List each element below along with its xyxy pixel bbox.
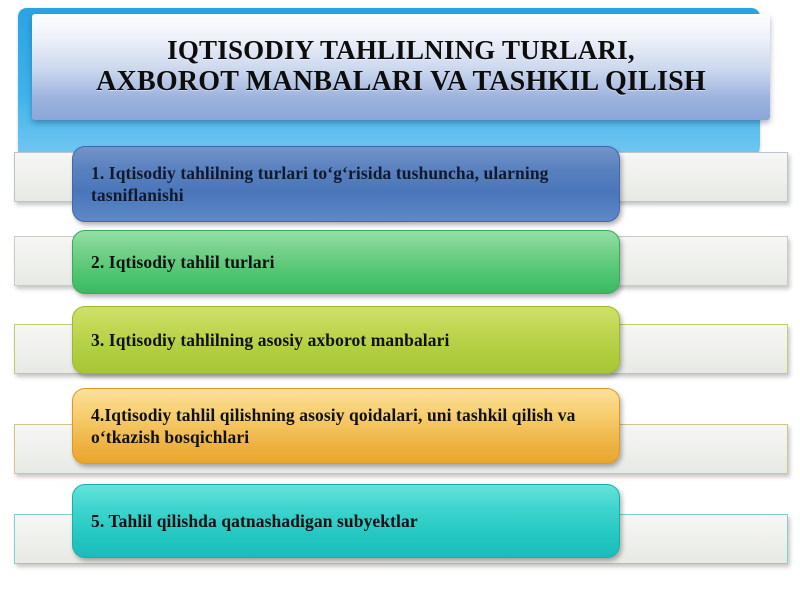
- page-title-line1: IQTISODIY TAHLILNING TURLARI,: [167, 35, 635, 65]
- agenda-item-3-label: 3. Iqtisodiy tahlilning asosiy axborot m…: [73, 329, 467, 351]
- slide-canvas: IQTISODIY TAHLILNING TURLARI, AXBOROT MA…: [0, 0, 800, 600]
- agenda-item-1[interactable]: 1. Iqtisodiy tahlilning turlari to‘g‘ris…: [72, 146, 620, 222]
- agenda-item-5-label: 5. Tahlil qilishda qatnashadigan subyekt…: [73, 510, 436, 532]
- slide-title-plate: IQTISODIY TAHLILNING TURLARI, AXBOROT MA…: [32, 14, 770, 120]
- agenda-item-1-label: 1. Iqtisodiy tahlilning turlari to‘g‘ris…: [73, 162, 619, 206]
- page-title: IQTISODIY TAHLILNING TURLARI, AXBOROT MA…: [86, 35, 716, 99]
- agenda-item-2[interactable]: 2. Iqtisodiy tahlil turlari: [72, 230, 620, 294]
- agenda-item-5[interactable]: 5. Tahlil qilishda qatnashadigan subyekt…: [72, 484, 620, 558]
- page-title-line2: AXBOROT MANBALARI VA TASHKIL QILISH: [96, 66, 706, 98]
- agenda-item-4[interactable]: 4.Iqtisodiy tahlil qilishning asosiy qoi…: [72, 388, 620, 464]
- agenda-item-2-label: 2. Iqtisodiy tahlil turlari: [73, 251, 293, 273]
- agenda-item-4-label: 4.Iqtisodiy tahlil qilishning asosiy qoi…: [73, 404, 619, 448]
- agenda-item-3[interactable]: 3. Iqtisodiy tahlilning asosiy axborot m…: [72, 306, 620, 374]
